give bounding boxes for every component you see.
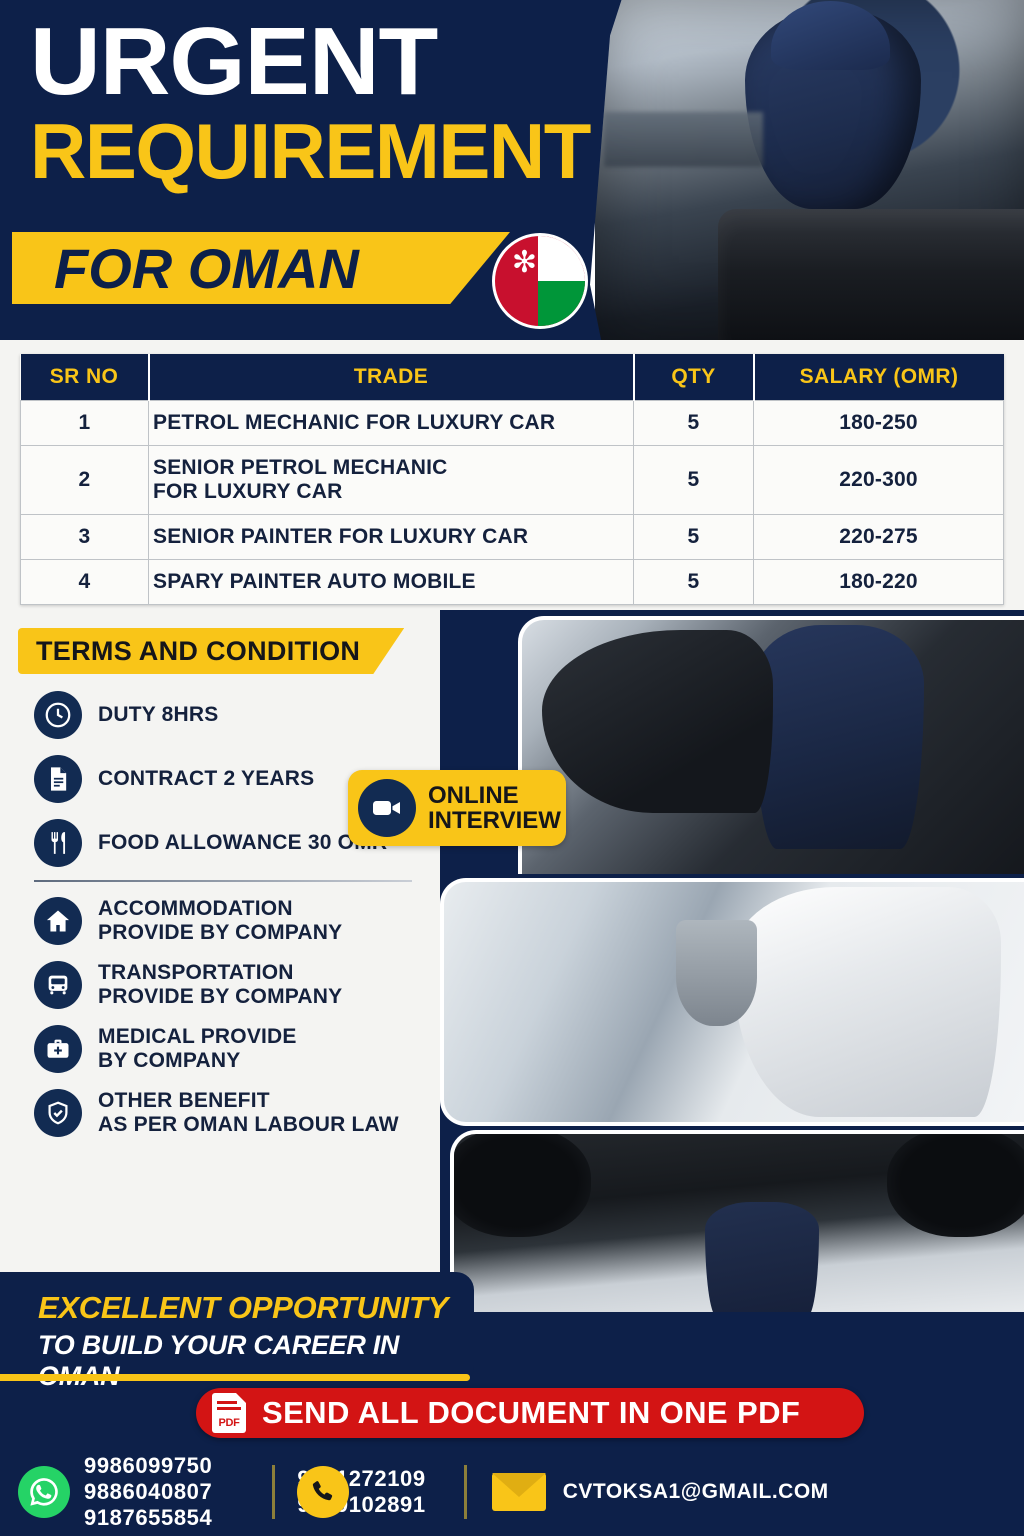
title-line-for-oman: FOR OMAN (12, 236, 359, 301)
list-item-label: FOOD ALLOWANCE 30 OMR (98, 831, 387, 855)
phone-icon (297, 1466, 349, 1518)
contact-divider-1 (272, 1465, 275, 1519)
bus-icon (34, 961, 82, 1009)
yellow-accent-rule (0, 1374, 470, 1381)
whatsapp-number-3: 9187655854 (84, 1505, 212, 1530)
opportunity-band: EXCELLENT OPPORTUNITY TO BUILD YOUR CARE… (0, 1272, 474, 1384)
term-line-1: TRANSPORTATION (98, 961, 294, 984)
mechanic-engine-hero-photo (590, 0, 1024, 340)
cell-sr: 2 (21, 446, 149, 515)
trade-line-1: PETROL MECHANIC FOR LUXURY CAR (153, 411, 555, 434)
contact-footer: 9986099750 9886040807 9187655854 9731272… (0, 1448, 1024, 1536)
trade-line-1: SENIOR PETROL MECHANIC (153, 456, 448, 479)
cell-trade: SENIOR PAINTER FOR LUXURY CAR (149, 515, 634, 560)
list-item: OTHER BENEFIT AS PER OMAN LABOUR LAW (34, 1086, 426, 1140)
poster-title: URGENT REQUIREMENT (30, 18, 610, 192)
whatsapp-numbers: 9986099750 9886040807 9187655854 (84, 1453, 212, 1531)
cell-qty: 5 (634, 401, 754, 446)
terms-banner-label: TERMS AND CONDITION (36, 636, 360, 667)
food-icon (34, 819, 82, 867)
flag-white-quadrant (538, 236, 585, 281)
cell-qty: 5 (634, 515, 754, 560)
contact-divider-2 (464, 1465, 467, 1519)
col-sr-no: SR NO (21, 354, 149, 401)
phone-contact[interactable]: 9731272109 9900102891 (297, 1466, 425, 1518)
under-car-mechanic-photo (450, 1130, 1024, 1312)
medical-kit-icon (34, 1025, 82, 1073)
cell-sr: 4 (21, 560, 149, 605)
for-oman-banner: FOR OMAN (12, 232, 510, 304)
cell-trade: SENIOR PETROL MECHANIC FOR LUXURY CAR (149, 446, 634, 515)
mechanic-engine-photo (518, 616, 1024, 874)
pdf-line-2 (217, 1407, 241, 1410)
envelope-shape (492, 1473, 546, 1511)
send-pdf-label: SEND ALL DOCUMENT IN ONE PDF (262, 1395, 800, 1431)
cell-qty: 5 (634, 446, 754, 515)
term-line-1: ACCOMMODATION (98, 897, 293, 920)
list-item-label: DUTY 8HRS (98, 703, 218, 727)
under-car-worker-shape (705, 1202, 819, 1312)
flag-green-quadrant (538, 281, 585, 326)
table-row: 2 SENIOR PETROL MECHANIC FOR LUXURY CAR … (21, 446, 1004, 515)
list-item-label: TRANSPORTATION PROVIDE BY COMPANY (98, 961, 342, 1010)
title-line-requirement: REQUIREMENT (30, 112, 610, 192)
cell-sr: 1 (21, 401, 149, 446)
list-item-label: CONTRACT 2 YEARS (98, 767, 314, 791)
opportunity-line-1: EXCELLENT OPPORTUNITY (38, 1290, 448, 1326)
online-interview-badge: ONLINE INTERVIEW (348, 770, 566, 846)
term-line-1: CONTRACT 2 YEARS (98, 767, 314, 790)
cell-salary: 220-275 (754, 515, 1004, 560)
online-line-2: INTERVIEW (428, 807, 561, 834)
col-salary: SALARY (OMR) (754, 354, 1004, 401)
cell-salary: 180-220 (754, 560, 1004, 605)
document-icon (34, 755, 82, 803)
jobs-table-zone: SR NO TRADE QTY SALARY (OMR) 1 PETROL ME… (0, 340, 1024, 610)
trade-line-2: FOR LUXURY CAR (153, 480, 629, 504)
email-contact[interactable]: CVTOKSA1@GMAIL.COM (489, 1466, 829, 1518)
term-line-1: FOOD ALLOWANCE 30 OMR (98, 831, 387, 854)
engine-bay-shape (718, 209, 1024, 347)
video-camera-icon (358, 779, 416, 837)
pdf-file-icon: PDF (212, 1393, 246, 1433)
list-item: DUTY 8HRS (34, 688, 426, 742)
whatsapp-icon (18, 1466, 70, 1518)
terms-panel: TERMS AND CONDITION DUTY 8HRS (0, 610, 440, 1272)
workshop-bench-blur (604, 112, 763, 167)
cell-sr: 3 (21, 515, 149, 560)
list-item: ACCOMMODATION PROVIDE BY COMPANY (34, 894, 426, 948)
poster-root: URGENT REQUIREMENT FOR OMAN ✻ SR NO TRAD… (0, 0, 1024, 1536)
oman-flag-icon: ✻ (492, 233, 588, 329)
clock-icon (34, 691, 82, 739)
home-icon (34, 897, 82, 945)
email-address: CVTOKSA1@GMAIL.COM (563, 1480, 829, 1504)
cell-salary: 220-300 (754, 446, 1004, 515)
table-row: 4 SPARY PAINTER AUTO MOBILE 5 180-220 (21, 560, 1004, 605)
term-line-2: PROVIDE BY COMPANY (98, 985, 342, 1008)
terms-banner: TERMS AND CONDITION (18, 628, 404, 674)
cell-salary: 180-250 (754, 401, 1004, 446)
terms-divider (34, 880, 412, 882)
spray-painter-photo (440, 878, 1024, 1126)
col-trade: TRADE (149, 354, 634, 401)
trade-line-1: SENIOR PAINTER FOR LUXURY CAR (153, 525, 528, 548)
whatsapp-number-2: 9886040807 (84, 1479, 212, 1504)
envelope-icon (489, 1466, 549, 1518)
table-row: 3 SENIOR PAINTER FOR LUXURY CAR 5 220-27… (21, 515, 1004, 560)
list-item: TRANSPORTATION PROVIDE BY COMPANY (34, 958, 426, 1012)
terms-list: DUTY 8HRS CONTRACT 2 YEARS (34, 688, 426, 1150)
send-pdf-banner: PDF SEND ALL DOCUMENT IN ONE PDF (196, 1388, 864, 1438)
shield-check-icon (34, 1089, 82, 1137)
term-line-1: OTHER BENEFIT (98, 1089, 270, 1112)
pdf-line-1 (217, 1401, 237, 1404)
term-line-1: DUTY 8HRS (98, 703, 218, 726)
list-item-label: OTHER BENEFIT AS PER OMAN LABOUR LAW (98, 1089, 399, 1138)
pdf-icon-label: PDF (218, 1417, 239, 1429)
opportunity-line-2: TO BUILD YOUR CAREER IN OMAN (38, 1330, 474, 1392)
table-header-row: SR NO TRADE QTY SALARY (OMR) (21, 354, 1004, 401)
table-row: 1 PETROL MECHANIC FOR LUXURY CAR 5 180-2… (21, 401, 1004, 446)
cell-qty: 5 (634, 560, 754, 605)
flag-emblem-icon: ✻ (509, 248, 539, 278)
list-item: MEDICAL PROVIDE BY COMPANY (34, 1022, 426, 1076)
term-line-2: AS PER OMAN LABOUR LAW (98, 1113, 399, 1136)
title-line-urgent: URGENT (30, 18, 622, 106)
term-line-2: BY COMPANY (98, 1049, 240, 1072)
jobs-table: SR NO TRADE QTY SALARY (OMR) 1 PETROL ME… (20, 354, 1004, 605)
whatsapp-number-1: 9986099750 (84, 1453, 212, 1478)
list-item-label: ACCOMMODATION PROVIDE BY COMPANY (98, 897, 342, 946)
online-interview-label: ONLINE INTERVIEW (428, 783, 561, 833)
cell-trade: PETROL MECHANIC FOR LUXURY CAR (149, 401, 634, 446)
cell-trade: SPARY PAINTER AUTO MOBILE (149, 560, 634, 605)
col-qty: QTY (634, 354, 754, 401)
poster-header: URGENT REQUIREMENT FOR OMAN ✻ (0, 0, 1024, 348)
online-line-1: ONLINE (428, 782, 519, 809)
term-line-2: PROVIDE BY COMPANY (98, 921, 342, 944)
term-line-1: MEDICAL PROVIDE (98, 1025, 297, 1048)
trade-line-1: SPARY PAINTER AUTO MOBILE (153, 570, 476, 593)
list-item-label: MEDICAL PROVIDE BY COMPANY (98, 1025, 297, 1074)
whatsapp-contact[interactable]: 9986099750 9886040807 9187655854 (18, 1453, 212, 1531)
